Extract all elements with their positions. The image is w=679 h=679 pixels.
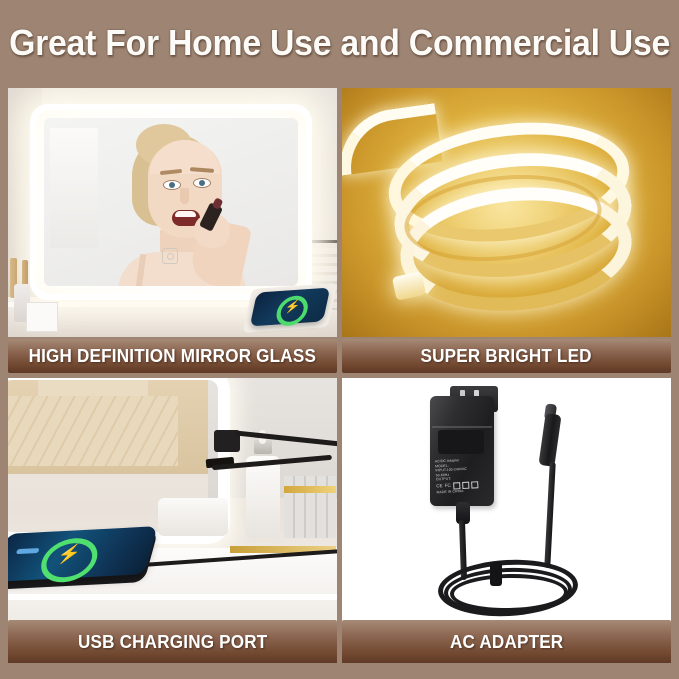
- mirror-base: [158, 498, 228, 536]
- led-strip-end-cap: [392, 271, 426, 301]
- counter-box: [26, 302, 58, 332]
- feature-cell-usb-charging-port: ⚡ USB CHARGING PORT: [8, 378, 337, 663]
- feature-cell-super-bright-led: SUPER BRIGHT LED: [342, 88, 671, 373]
- lightning-bolt-icon: ⚡: [284, 300, 302, 313]
- adapter-seam: [432, 426, 492, 428]
- caption-bar-super-bright-led: SUPER BRIGHT LED: [342, 339, 671, 373]
- fcc-mark-icon: FC: [445, 483, 451, 489]
- caption-text: SUPER BRIGHT LED: [421, 346, 592, 367]
- dc-barrel-connector: [538, 413, 561, 467]
- photo-high-definition-mirror-glass: ⚡: [8, 88, 337, 337]
- caption-text: HIGH DEFINITION MIRROR GLASS: [29, 346, 316, 367]
- adapter-label: AC/DC Adapter MODEL: INPUT:100-240VAC 50…: [435, 457, 491, 504]
- background-window: [50, 128, 98, 248]
- woman-eye-right: [193, 178, 211, 188]
- mirror-glass: [44, 118, 298, 286]
- scene-ac-adapter: AC/DC Adapter MODEL: INPUT:100-240VAC 50…: [342, 378, 671, 626]
- photo-ac-adapter: AC/DC Adapter MODEL: INPUT:100-240VAC 50…: [342, 378, 671, 626]
- caption-bar-usb-charging-port: USB CHARGING PORT: [8, 620, 337, 663]
- caption-bar-ac-adapter: AC ADAPTER: [342, 620, 671, 663]
- woman-teeth: [175, 211, 196, 217]
- dc-cable-segment: [544, 462, 556, 568]
- infographic-page: Great For Home Use and Commercial Use: [0, 0, 679, 679]
- header-banner: Great For Home Use and Commercial Use: [0, 0, 679, 86]
- counter-lip: [8, 594, 337, 600]
- woman-nose: [180, 188, 189, 204]
- adapter-recess: [438, 430, 484, 454]
- page-title: Great For Home Use and Commercial Use: [9, 22, 670, 64]
- caption-bar-mirror-glass: HIGH DEFINITION MIRROR GLASS: [8, 339, 337, 373]
- ce-mark-icon: CE: [436, 484, 443, 490]
- woman-eye-left: [163, 180, 181, 190]
- photo-super-bright-led: [342, 88, 671, 337]
- lotion-bottle: [246, 456, 280, 538]
- touch-sensor-button[interactable]: [162, 248, 178, 264]
- gold-trim-1: [284, 486, 336, 493]
- indoor-use-icon: [462, 482, 469, 489]
- smartphone-charging: ⚡: [8, 526, 158, 582]
- cable-tie: [490, 562, 502, 586]
- caption-text: AC ADAPTER: [450, 632, 563, 653]
- scene-vanity-mirror: ⚡: [8, 88, 337, 337]
- smartphone-charging: ⚡: [250, 288, 331, 327]
- photo-usb-charging-port: ⚡: [8, 378, 337, 626]
- feature-grid: ⚡ HIGH DEFINITION MIRROR GLASS: [8, 88, 671, 669]
- caption-text: USB CHARGING PORT: [78, 632, 267, 653]
- status-bar-icon: [16, 548, 40, 554]
- scene-led-strip: [342, 88, 671, 337]
- feature-cell-mirror-glass: ⚡ HIGH DEFINITION MIRROR GLASS: [8, 88, 337, 373]
- weee-icon: [471, 481, 478, 488]
- feature-cell-ac-adapter: AC/DC Adapter MODEL: INPUT:100-240VAC 50…: [342, 378, 671, 663]
- scene-usb-charging: ⚡: [8, 378, 337, 626]
